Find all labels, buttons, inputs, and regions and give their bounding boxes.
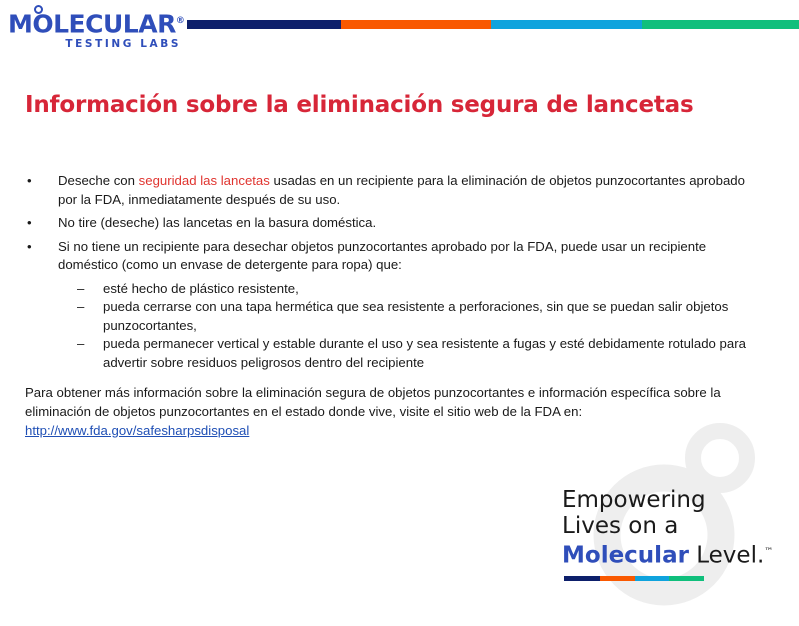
footer-tagline: Empowering Lives on a Molecular Level.™	[562, 487, 772, 581]
accent-segment-orange	[341, 20, 491, 29]
tagline-line-3: Molecular Level.™	[562, 539, 772, 569]
slide-content: • Deseche con seguridad las lancetas usa…	[0, 172, 799, 372]
dash-marker: –	[77, 280, 84, 299]
bullet-text-part: Deseche con	[58, 173, 139, 188]
sub-bullet-text: pueda permanecer vertical y estable dura…	[103, 336, 746, 370]
bullet-text: No tire (deseche) las lancetas en la bas…	[58, 215, 376, 230]
slide-header: MOLECULAR® TESTING LABS	[0, 0, 799, 57]
tagline-line-2: Lives on a	[562, 513, 772, 539]
page-title: Información sobre la eliminación segura …	[25, 92, 693, 118]
logo-subtitle: TESTING LABS	[8, 38, 183, 50]
sub-list-item: – esté hecho de plástico resistente,	[0, 280, 799, 299]
sub-list-item: – pueda cerrarse con una tapa hermética …	[0, 298, 799, 335]
list-item: • No tire (deseche) las lancetas en la b…	[0, 214, 799, 233]
footer-accent-bar	[564, 576, 704, 581]
bullet-text-highlight: seguridad las lancetas	[139, 173, 270, 188]
bullet-text: Deseche con seguridad las lancetas usada…	[58, 173, 745, 207]
dash-marker: –	[77, 335, 84, 354]
bullet-marker: •	[27, 238, 32, 257]
logo-wordmark-text: MOLECULAR®	[8, 8, 183, 37]
sub-bullet-text: esté hecho de plástico resistente,	[103, 281, 299, 296]
accent-segment-navy	[187, 20, 341, 29]
list-item: • Si no tiene un recipiente para desecha…	[0, 238, 799, 275]
closing-paragraph: Para obtener más información sobre la el…	[25, 383, 740, 440]
accent-segment-cyan	[491, 20, 642, 29]
logo-circle-icon	[34, 5, 43, 14]
footer-accent-segment-cyan	[635, 576, 669, 581]
bullet-marker: •	[27, 172, 32, 191]
bullet-text: Si no tiene un recipiente para desechar …	[58, 239, 706, 273]
sub-list-item: – pueda permanecer vertical y estable du…	[0, 335, 799, 372]
logo-wordmark-label: MOLECULAR	[8, 9, 176, 38]
sub-bullet-text: pueda cerrarse con una tapa hermética qu…	[103, 299, 728, 333]
list-item: • Deseche con seguridad las lancetas usa…	[0, 172, 799, 209]
accent-segment-green	[642, 20, 799, 29]
trademark-icon: ™	[764, 547, 773, 557]
tagline-suffix: Level.	[689, 543, 764, 569]
dash-marker: –	[77, 298, 84, 317]
company-logo: MOLECULAR® TESTING LABS	[8, 8, 183, 50]
footer-accent-segment-green	[669, 576, 704, 581]
footer-accent-segment-navy	[564, 576, 600, 581]
footer-accent-segment-orange	[600, 576, 635, 581]
fda-link[interactable]: http://www.fda.gov/safesharpsdisposal	[25, 423, 249, 438]
registered-trademark-icon: ®	[176, 16, 185, 26]
tagline-line-1: Empowering	[562, 487, 772, 513]
header-accent-bar	[187, 20, 799, 29]
bullet-marker: •	[27, 214, 32, 233]
tagline-brand: Molecular	[562, 543, 689, 569]
closing-paragraph-text: Para obtener más información sobre la el…	[25, 385, 721, 419]
